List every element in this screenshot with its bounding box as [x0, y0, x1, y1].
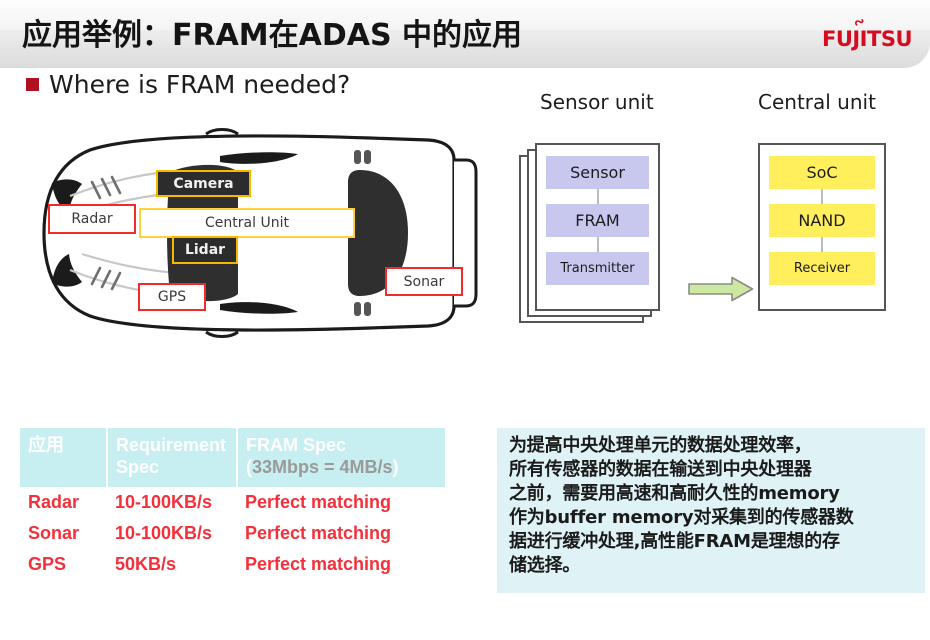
central-connector-1: [821, 189, 823, 204]
subtitle: Where is FRAM needed?: [26, 70, 350, 99]
fujitsu-infinity-icon: [855, 18, 866, 27]
cell-app: Radar: [20, 487, 107, 518]
table-row: Sonar 10-100KB/s Perfect matching: [20, 518, 445, 549]
cell-app: Sonar: [20, 518, 107, 549]
car-label-radar[interactable]: Radar: [48, 204, 136, 234]
table-row: GPS 50KB/s Perfect matching: [20, 549, 445, 580]
block-transmitter[interactable]: Transmitter: [546, 252, 649, 285]
sensor-connector-2: [597, 237, 599, 252]
subtitle-label: Where is FRAM needed?: [49, 70, 350, 99]
cell-requirement: 10-100KB/s: [107, 518, 237, 549]
table-body: Radar 10-100KB/s Perfect matching Sonar …: [20, 487, 445, 580]
car-label-lidar[interactable]: Lidar: [172, 236, 238, 264]
explanation-note: 为提高中央处理单元的数据处理效率， 所有传感器的数据在输送到中央处理器 之前，需…: [497, 428, 925, 593]
central-connector-2: [821, 237, 823, 252]
fujitsu-logo: FUJITSU: [822, 27, 912, 51]
table-header-app: 应用: [20, 428, 107, 487]
page-title: 应用举例：FRAM在ADAS 中的应用: [22, 10, 522, 54]
note-line-3: 之前，需要用高速和高耐久性的memory: [509, 482, 917, 506]
table-header-requirement: Requirement Spec: [107, 428, 237, 487]
table-header-row: 应用 Requirement Spec FRAM Spec (33Mbps = …: [20, 428, 445, 487]
sensor-unit-title: Sensor unit: [540, 90, 654, 114]
block-nand[interactable]: NAND: [769, 204, 875, 237]
fujitsu-logo-text: FUJITSU: [822, 27, 912, 51]
cell-fram: Perfect matching: [237, 487, 445, 518]
note-line-5: 据进行缓冲处理,高性能FRAM是理想的存: [509, 530, 917, 554]
note-line-1: 为提高中央处理单元的数据处理效率，: [509, 434, 917, 458]
block-sensor[interactable]: Sensor: [546, 156, 649, 189]
note-line-6: 储选择。: [509, 554, 917, 578]
note-line-2: 所有传感器的数据在输送到中央处理器: [509, 458, 917, 482]
spec-table: 应用 Requirement Spec FRAM Spec (33Mbps = …: [20, 428, 445, 580]
car-label-sonar[interactable]: Sonar: [385, 267, 463, 296]
note-line-4: 作为buffer memory对采集到的传感器数: [509, 506, 917, 530]
cell-app: GPS: [20, 549, 107, 580]
fram-spec-main: FRAM Spec: [246, 435, 346, 455]
cell-requirement: 10-100KB/s: [107, 487, 237, 518]
table-header-fram-spec: FRAM Spec (33Mbps = 4MB/s): [237, 428, 445, 487]
central-unit-title: Central unit: [758, 90, 876, 114]
cell-fram: Perfect matching: [237, 549, 445, 580]
car-diagram: Radar Central Unit Camera Lidar GPS Sona…: [30, 128, 500, 338]
car-label-gps[interactable]: GPS: [138, 283, 206, 311]
square-bullet-icon: [26, 78, 39, 91]
slide-root: 应用举例：FRAM在ADAS 中的应用 FUJITSU Where is FRA…: [0, 0, 930, 640]
car-label-camera[interactable]: Camera: [156, 170, 251, 197]
table-row: Radar 10-100KB/s Perfect matching: [20, 487, 445, 518]
fram-spec-sub: 33Mbps = 4MB/s: [252, 457, 393, 477]
block-fram[interactable]: FRAM: [546, 204, 649, 237]
fram-spec-paren-close: ): [393, 457, 399, 477]
block-soc[interactable]: SoC: [769, 156, 875, 189]
cell-requirement: 50KB/s: [107, 549, 237, 580]
sensor-connector-1: [597, 189, 599, 204]
flow-arrow-icon: [688, 276, 754, 307]
car-label-central-unit[interactable]: Central Unit: [139, 208, 355, 238]
cell-fram: Perfect matching: [237, 518, 445, 549]
block-receiver[interactable]: Receiver: [769, 252, 875, 285]
